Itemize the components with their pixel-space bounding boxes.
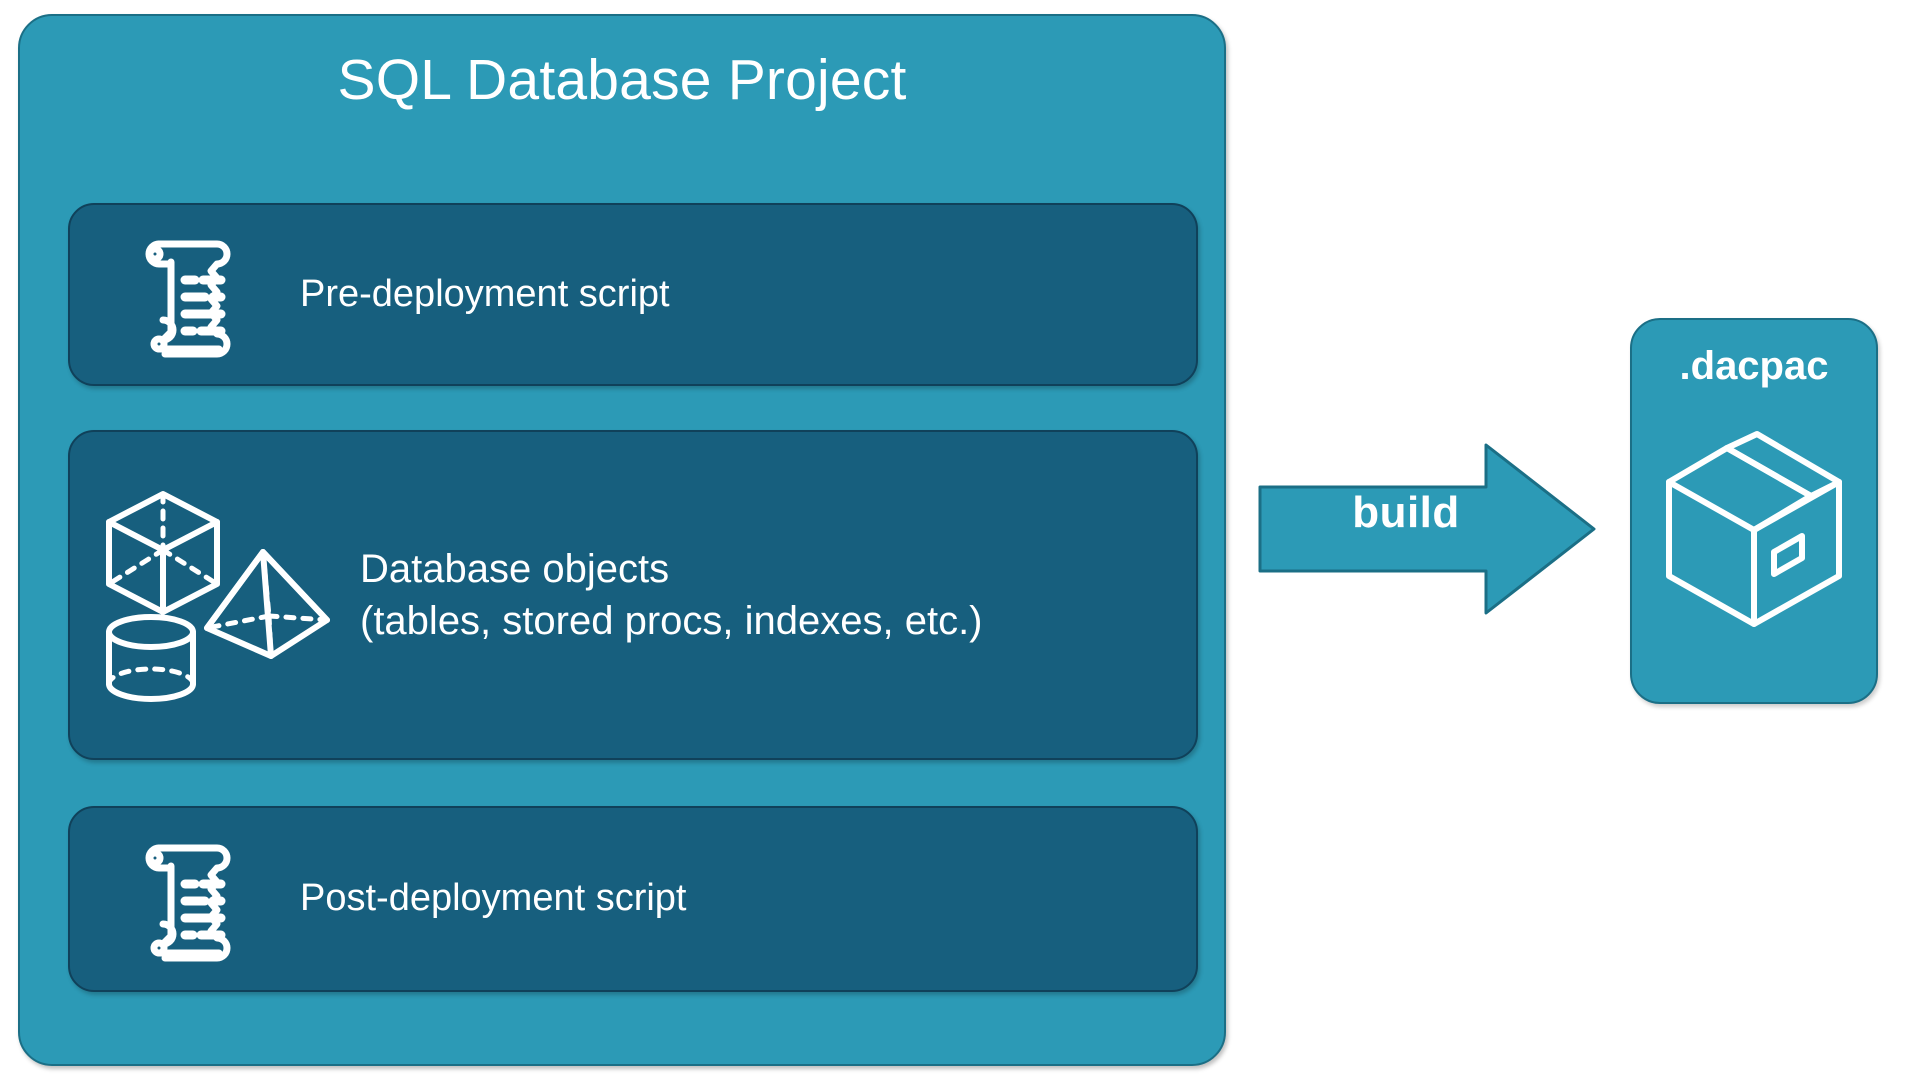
- dacpac-title: .dacpac: [1632, 346, 1876, 386]
- dacpac-output-panel[interactable]: .dacpac: [1630, 318, 1878, 704]
- build-arrow[interactable]: build: [1258, 443, 1596, 615]
- card-database-objects[interactable]: Database objects (tables, stored procs, …: [68, 430, 1198, 760]
- card-label-database-objects: Database objects (tables, stored procs, …: [360, 543, 983, 647]
- sql-database-project-panel: SQL Database Project: [18, 14, 1226, 1066]
- card-post-deployment-script[interactable]: Post-deployment script: [68, 806, 1198, 992]
- card-label-post-deployment: Post-deployment script: [300, 874, 687, 923]
- card-label-pre-deployment: Pre-deployment script: [300, 270, 670, 319]
- scroll-icon: [70, 232, 300, 358]
- 3d-shapes-icon: [70, 480, 360, 710]
- scroll-icon: [70, 836, 300, 962]
- build-label: build: [1306, 491, 1506, 535]
- card-pre-deployment-script[interactable]: Pre-deployment script: [68, 203, 1198, 386]
- page-title: SQL Database Project: [20, 48, 1224, 114]
- package-box-icon: [1661, 416, 1847, 628]
- diagram-canvas: SQL Database Project: [0, 0, 1920, 1080]
